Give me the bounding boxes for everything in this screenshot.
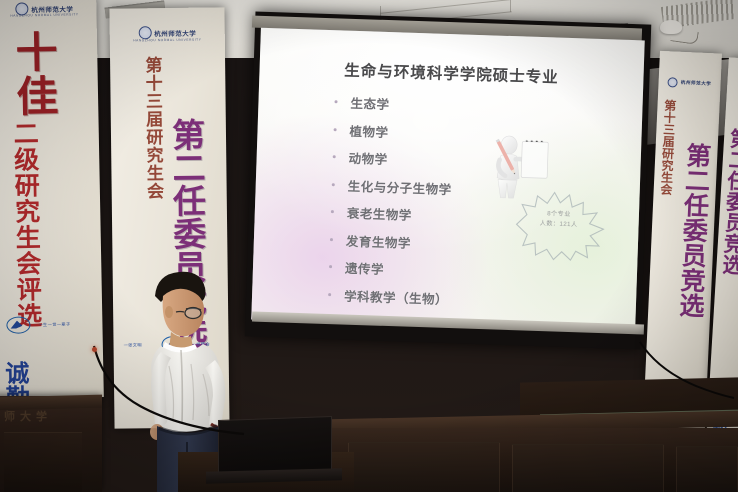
bullet-label: 发育生物学 [346,230,412,251]
bullet-dot-icon [334,100,337,103]
bullet-label: 生态学 [350,93,390,113]
university-name: 杭州师范大学 [681,80,712,87]
bullet-dot-icon [328,293,331,296]
bullet-dot-icon [332,183,335,186]
slide-title: 生命与环境科学学院硕士专业 [259,56,644,91]
list-item: 遗传学 [329,257,560,284]
banner-right-headline: 第二任委员竞选 [676,142,709,318]
desk-panel [676,446,738,492]
bullet-label: 生化与分子生物学 [347,175,452,197]
microphone-indicator-light [92,347,97,352]
podium-front-panel [4,432,82,492]
banner-left-subhead: 二级研究生会评选 [11,120,40,328]
bullet-label: 学科教学（生物） [344,285,449,307]
list-item: 学科教学（生物） [328,285,559,312]
desk-panel [512,444,664,492]
cable-right [636,336,736,416]
banner-right-outer-headline: 第二任委员竞选 [720,127,738,275]
bullet-dot-icon [333,155,336,158]
banner-university-logo-row: 杭州师范大学 [658,77,720,90]
ceiling-seam [510,0,511,12]
microphone-cable [60,328,250,438]
bullet-label: 动物学 [348,148,388,168]
banner-mid-small-line: 第十三届研究生会 [142,56,161,200]
banner-right-small-line: 第十三届研究生会 [659,99,676,195]
desk-front-panel [330,428,738,492]
lecture-hall-photo: 生命与环境科学学院硕士专业 生态学 植物学 动物学 生化与分子生物学 衰老生物学 [0,0,738,492]
bullet-label: 遗传学 [345,258,385,278]
list-item: 生态学 [334,92,565,119]
banner-left-headline: 十佳 [11,30,56,119]
callout-text: 8个专业 人数：121人 [522,209,595,231]
bullet-dot-icon [331,210,334,213]
bullet-dot-icon [330,238,333,241]
bullet-dot-icon [334,128,337,131]
projection-screen-surface: 生命与环境科学学院硕士专业 生态学 植物学 动物学 生化与分子生物学 衰老生物学 [251,28,644,333]
ceiling-wire [670,28,699,45]
banner-foot-logo-icon [6,316,30,333]
university-name-en: HANGZHOU NORMAL UNIVERSITY [0,12,97,18]
desk-panel [348,442,500,492]
podium-engraved-text: 师大学 [4,408,52,424]
university-name-en: HANGZHOU NORMAL UNIVERSITY [110,37,225,42]
banner-left-motto: 诚勤 [1,360,26,399]
bullet-dot-icon [329,265,332,268]
bullet-label: 植物学 [349,120,389,140]
ceiling-seam [380,0,509,14]
university-name: 杭州师范大学 [154,27,196,38]
bullet-label: 衰老生物学 [347,203,413,224]
university-seal-icon [668,77,678,87]
